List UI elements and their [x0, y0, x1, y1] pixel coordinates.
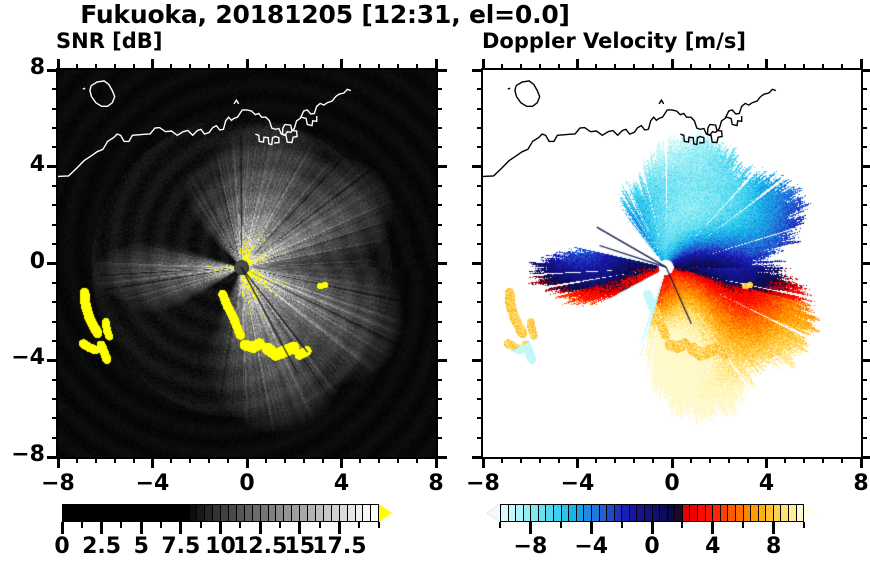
colorbar-minor-tick: [803, 522, 805, 528]
x-tick-minor: [841, 457, 843, 463]
colorbar-minor-tick: [120, 522, 122, 528]
colorbar-cell: [261, 505, 269, 521]
x-tick-label: −8: [18, 471, 98, 496]
y-tick-minor: [861, 69, 870, 72]
colorbar-cell: [751, 505, 759, 521]
colorbar-cell: [524, 505, 532, 521]
x-tick-minor: [671, 457, 674, 468]
colorbar-minor-tick: [81, 522, 83, 528]
colorbar-major-tick: [100, 522, 103, 534]
x-tick-minor: [133, 64, 135, 70]
colorbar-major-tick: [61, 522, 64, 534]
y-tick-minor: [52, 340, 58, 342]
x-tick-minor: [114, 457, 116, 463]
colorbar-cell: [577, 505, 585, 521]
y-tick-minor: [861, 204, 867, 206]
x-tick-minor: [784, 457, 786, 463]
coastline-segment: [483, 89, 776, 176]
colorbar-cell: [668, 505, 676, 521]
colorbar-major-tick: [772, 522, 775, 534]
x-tick-minor: [208, 64, 210, 70]
colorbar-cell: [766, 505, 774, 521]
y-tick-minor: [861, 398, 867, 400]
y-tick-minor: [477, 146, 483, 148]
x-tick-minor: [170, 457, 172, 463]
x-tick-minor: [709, 64, 711, 70]
x-tick-minor: [860, 457, 863, 468]
x-tick-minor: [359, 457, 361, 463]
colorbar-minor-tick: [378, 522, 380, 528]
x-tick-minor: [76, 64, 78, 70]
colorbar-cell: [79, 505, 87, 521]
x-tick-minor: [520, 64, 522, 70]
snr-colorbar[interactable]: [62, 504, 392, 522]
y-tick-minor: [861, 127, 867, 129]
x-tick-minor: [397, 457, 399, 463]
y-tick-minor: [436, 321, 442, 323]
y-tick-minor: [472, 262, 483, 265]
x-tick-minor: [322, 457, 324, 463]
y-tick-minor: [861, 456, 870, 459]
x-tick-label: 0: [207, 471, 287, 496]
x-tick-minor: [539, 457, 541, 463]
y-tick-minor: [861, 301, 867, 303]
y-tick-minor: [47, 165, 58, 168]
y-tick-minor: [436, 185, 442, 187]
y-tick-minor: [52, 301, 58, 303]
colorbar-minor-tick: [200, 522, 202, 528]
colorbar-cell: [736, 505, 744, 521]
colorbar-cell: [229, 505, 237, 521]
x-tick-minor: [576, 59, 579, 70]
x-tick-minor: [397, 64, 399, 70]
x-tick-minor: [803, 457, 805, 463]
y-tick-minor: [436, 301, 442, 303]
colorbar-minor-tick: [279, 522, 281, 528]
colorbar-cell: [789, 505, 797, 521]
x-tick-label: −4: [538, 471, 618, 496]
y-tick-minor: [472, 69, 483, 72]
colorbar-major-tick: [298, 522, 301, 534]
x-tick-minor: [208, 457, 210, 463]
figure-suptitle: Fukuoka, 20181205 [12:31, el=0.0]: [0, 0, 650, 29]
colorbar-major-tick: [179, 522, 182, 534]
y-tick-minor: [861, 282, 867, 284]
y-tick-minor: [436, 437, 442, 439]
x-tick-minor: [784, 64, 786, 70]
y-tick-minor: [436, 398, 442, 400]
y-tick-minor: [472, 456, 483, 459]
y-tick-minor: [436, 243, 442, 245]
colorbar-cell: [592, 505, 600, 521]
colorbar-cell: [781, 505, 789, 521]
y-tick-minor: [47, 359, 58, 362]
x-tick-minor: [246, 59, 249, 70]
y-tick-minor: [52, 437, 58, 439]
doppler-colorbar-extend-arrow-left-icon: [487, 504, 500, 522]
colorbar-minor-tick: [160, 522, 162, 528]
x-tick-minor: [416, 457, 418, 463]
colorbar-cell: [174, 505, 182, 521]
x-tick-minor: [595, 457, 597, 463]
y-tick-minor: [52, 146, 58, 148]
y-tick-minor: [47, 262, 58, 265]
y-tick-label: −8: [0, 442, 45, 467]
colorbar-cell: [126, 505, 134, 521]
colorbar-major-tick: [590, 522, 593, 534]
colorbar-cell: [371, 505, 378, 521]
coastline-segment: [301, 116, 316, 126]
x-tick-minor: [95, 457, 97, 463]
colorbar-cell: [348, 505, 356, 521]
colorbar-cell: [363, 505, 371, 521]
colorbar-tick-label: 17.5: [299, 534, 379, 559]
x-tick-minor: [265, 457, 267, 463]
y-tick-minor: [861, 262, 870, 265]
x-tick-minor: [822, 457, 824, 463]
x-tick-minor: [539, 64, 541, 70]
colorbar-cell: [600, 505, 608, 521]
colorbar-minor-tick: [560, 522, 562, 528]
y-tick-minor: [52, 127, 58, 129]
x-tick-minor: [652, 457, 654, 463]
x-tick-minor: [841, 64, 843, 70]
y-tick-minor: [47, 69, 58, 72]
colorbar-cell: [774, 505, 782, 521]
y-tick-minor: [436, 262, 447, 265]
y-tick-label: 4: [0, 152, 45, 177]
x-tick-minor: [57, 457, 60, 468]
x-tick-label: 8: [821, 471, 870, 496]
snr-plot-area: [56, 68, 438, 459]
y-tick-minor: [436, 379, 442, 381]
y-tick-minor: [861, 108, 867, 110]
x-tick-minor: [576, 457, 579, 468]
y-tick-minor: [861, 321, 867, 323]
x-tick-minor: [614, 64, 616, 70]
y-tick-minor: [52, 417, 58, 419]
colorbar-cell: [501, 505, 509, 521]
x-tick-minor: [416, 64, 418, 70]
y-tick-minor: [477, 185, 483, 187]
colorbar-cell: [253, 505, 261, 521]
doppler-colorbar[interactable]: [487, 504, 817, 522]
panel-title-doppler: Doppler Velocity [m/s]: [482, 29, 746, 53]
colorbar-major-tick: [259, 522, 262, 534]
x-tick-minor: [265, 64, 267, 70]
y-tick-minor: [436, 108, 442, 110]
y-tick-minor: [477, 437, 483, 439]
x-tick-minor: [520, 457, 522, 463]
colorbar-cell: [356, 505, 364, 521]
coastline-segment: [680, 134, 704, 144]
y-tick-minor: [477, 301, 483, 303]
x-tick-minor: [614, 457, 616, 463]
colorbar-cell: [645, 505, 653, 521]
y-tick-minor: [477, 340, 483, 342]
y-tick-minor: [436, 456, 447, 459]
colorbar-cell: [683, 505, 691, 521]
colorbar-major-tick: [338, 522, 341, 534]
x-tick-label: 4: [727, 471, 807, 496]
colorbar-cell: [531, 505, 539, 521]
colorbar-cell: [213, 505, 221, 521]
x-tick-minor: [595, 64, 597, 70]
x-tick-minor: [558, 64, 560, 70]
x-tick-minor: [501, 457, 503, 463]
colorbar-cell: [190, 505, 198, 521]
x-tick-minor: [633, 64, 635, 70]
x-tick-label: 0: [632, 471, 712, 496]
y-tick-minor: [477, 88, 483, 90]
colorbar-minor-tick: [239, 522, 241, 528]
y-tick-minor: [472, 165, 483, 168]
y-tick-minor: [436, 88, 442, 90]
colorbar-cell: [721, 505, 729, 521]
colorbar-cell: [95, 505, 103, 521]
y-tick-minor: [861, 165, 870, 168]
colorbar-cell: [653, 505, 661, 521]
y-tick-minor: [861, 224, 867, 226]
y-tick-minor: [52, 224, 58, 226]
y-tick-minor: [477, 108, 483, 110]
y-tick-minor: [52, 398, 58, 400]
radar-figure: Fukuoka, 20181205 [12:31, el=0.0] SNR [d…: [0, 0, 870, 570]
y-tick-minor: [861, 88, 867, 90]
x-tick-minor: [652, 64, 654, 70]
colorbar-cell: [150, 505, 158, 521]
colorbar-cell: [269, 505, 277, 521]
colorbar-cell: [728, 505, 736, 521]
x-tick-minor: [151, 457, 154, 468]
colorbar-cell: [713, 505, 721, 521]
colorbar-cell: [205, 505, 213, 521]
y-tick-minor: [52, 185, 58, 187]
snr-coastline: [58, 70, 436, 457]
x-tick-minor: [378, 64, 380, 70]
colorbar-cell: [660, 505, 668, 521]
y-tick-minor: [477, 243, 483, 245]
y-tick-minor: [52, 108, 58, 110]
coastline-segment: [726, 116, 741, 126]
colorbar-major-tick: [219, 522, 222, 534]
x-tick-minor: [765, 59, 768, 70]
colorbar-cell: [118, 505, 126, 521]
y-tick-minor: [436, 146, 442, 148]
colorbar-cell: [607, 505, 615, 521]
x-tick-minor: [303, 64, 305, 70]
colorbar-major-tick: [711, 522, 714, 534]
colorbar-cell: [308, 505, 316, 521]
x-tick-minor: [558, 457, 560, 463]
y-tick-minor: [436, 417, 442, 419]
x-tick-minor: [170, 64, 172, 70]
y-tick-minor: [52, 379, 58, 381]
y-tick-minor: [477, 417, 483, 419]
colorbar-cell: [237, 505, 245, 521]
coastline-segment: [234, 100, 239, 104]
y-tick-minor: [472, 359, 483, 362]
y-tick-minor: [477, 282, 483, 284]
colorbar-cell: [110, 505, 118, 521]
x-tick-minor: [189, 64, 191, 70]
colorbar-cell: [316, 505, 324, 521]
colorbar-cell: [71, 505, 79, 521]
x-tick-minor: [151, 59, 154, 70]
colorbar-cell: [142, 505, 150, 521]
y-tick-minor: [52, 243, 58, 245]
y-tick-minor: [861, 437, 867, 439]
x-tick-minor: [482, 457, 485, 468]
colorbar-cell: [698, 505, 706, 521]
colorbar-cell: [300, 505, 308, 521]
x-tick-minor: [133, 457, 135, 463]
colorbar-cell: [63, 505, 71, 521]
y-tick-minor: [477, 321, 483, 323]
y-tick-minor: [436, 127, 442, 129]
colorbar-cell: [103, 505, 111, 521]
x-tick-minor: [114, 64, 116, 70]
coastline-segment: [508, 88, 510, 89]
colorbar-cell: [166, 505, 174, 521]
coastline-segment: [58, 89, 351, 176]
colorbar-cell: [546, 505, 554, 521]
y-tick-minor: [477, 204, 483, 206]
x-tick-minor: [822, 64, 824, 70]
x-tick-minor: [359, 64, 361, 70]
y-tick-minor: [477, 379, 483, 381]
snr-colorbar-extend-arrow-icon: [379, 504, 392, 522]
colorbar-cell: [744, 505, 752, 521]
coastline-segment: [659, 100, 664, 104]
y-tick-minor: [436, 165, 447, 168]
colorbar-cell: [324, 505, 332, 521]
colorbar-cell: [197, 505, 205, 521]
y-tick-label: 8: [0, 55, 45, 80]
coastline-segment: [83, 88, 85, 89]
colorbar-cell: [675, 505, 683, 521]
x-tick-label: 4: [302, 471, 382, 496]
x-tick-minor: [709, 457, 711, 463]
y-tick-minor: [52, 88, 58, 90]
colorbar-cell: [615, 505, 623, 521]
colorbar-cell: [630, 505, 638, 521]
y-tick-minor: [861, 417, 867, 419]
colorbar-cell: [276, 505, 284, 521]
colorbar-cell: [158, 505, 166, 521]
x-tick-minor: [728, 457, 730, 463]
colorbar-cell: [221, 505, 229, 521]
x-tick-minor: [284, 64, 286, 70]
colorbar-cell: [292, 505, 300, 521]
coastline-segment: [90, 81, 115, 106]
colorbar-cell: [706, 505, 714, 521]
colorbar-cell: [134, 505, 142, 521]
colorbar-cell: [539, 505, 547, 521]
snr-colorbar-cells: [62, 504, 379, 522]
y-tick-minor: [477, 398, 483, 400]
colorbar-cell: [759, 505, 767, 521]
y-tick-minor: [861, 359, 870, 362]
colorbar-major-tick: [651, 522, 654, 534]
x-tick-minor: [284, 457, 286, 463]
x-tick-minor: [340, 457, 343, 468]
colorbar-cell: [87, 505, 95, 521]
doppler-coastline: [483, 70, 861, 457]
y-tick-minor: [861, 146, 867, 148]
x-tick-minor: [671, 59, 674, 70]
colorbar-cell: [569, 505, 577, 521]
colorbar-minor-tick: [621, 522, 623, 528]
coastline-segment: [515, 81, 540, 106]
y-tick-label: 0: [0, 249, 45, 274]
x-tick-minor: [95, 64, 97, 70]
colorbar-cell: [182, 505, 190, 521]
y-tick-minor: [436, 69, 447, 72]
colorbar-cell: [637, 505, 645, 521]
colorbar-cell: [554, 505, 562, 521]
colorbar-cell: [584, 505, 592, 521]
colorbar-tick-label: 8: [734, 534, 814, 559]
y-tick-minor: [52, 282, 58, 284]
y-tick-minor: [436, 204, 442, 206]
y-tick-minor: [52, 204, 58, 206]
x-tick-label: −4: [113, 471, 193, 496]
x-tick-minor: [227, 64, 229, 70]
y-tick-minor: [52, 321, 58, 323]
colorbar-cell: [690, 505, 698, 521]
y-tick-minor: [436, 224, 442, 226]
colorbar-cell: [332, 505, 340, 521]
colorbar-major-tick: [529, 522, 532, 534]
x-tick-minor: [322, 64, 324, 70]
y-tick-minor: [477, 127, 483, 129]
x-tick-minor: [765, 457, 768, 468]
panel-title-snr: SNR [dB]: [56, 29, 162, 53]
colorbar-minor-tick: [681, 522, 683, 528]
x-tick-minor: [747, 64, 749, 70]
colorbar-minor-tick: [319, 522, 321, 528]
x-tick-minor: [501, 64, 503, 70]
x-tick-minor: [340, 59, 343, 70]
coastline-segment: [255, 134, 279, 144]
y-tick-minor: [436, 359, 447, 362]
x-tick-minor: [189, 457, 191, 463]
doppler-colorbar-extend-arrow-right-icon: [804, 504, 817, 522]
x-tick-minor: [227, 457, 229, 463]
y-tick-minor: [861, 243, 867, 245]
x-tick-minor: [728, 64, 730, 70]
colorbar-cell: [622, 505, 630, 521]
colorbar-cell: [340, 505, 348, 521]
colorbar-minor-tick: [742, 522, 744, 528]
colorbar-cell: [797, 505, 804, 521]
colorbar-minor-tick: [499, 522, 501, 528]
x-tick-minor: [633, 457, 635, 463]
y-tick-minor: [436, 282, 442, 284]
doppler-plot-area: [481, 68, 863, 459]
x-tick-minor: [690, 457, 692, 463]
doppler-colorbar-cells: [500, 504, 804, 522]
colorbar-cell: [284, 505, 292, 521]
colorbar-minor-tick: [358, 522, 360, 528]
colorbar-cell: [245, 505, 253, 521]
y-tick-label: −4: [0, 345, 45, 370]
y-tick-minor: [861, 340, 867, 342]
colorbar-major-tick: [140, 522, 143, 534]
y-tick-minor: [861, 379, 867, 381]
y-tick-minor: [477, 224, 483, 226]
